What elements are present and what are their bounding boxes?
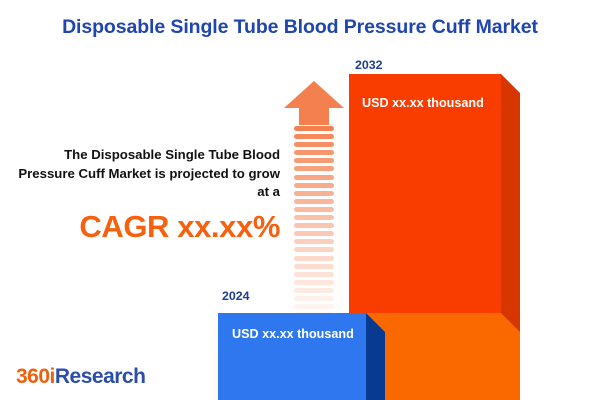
arrow-stripes	[294, 126, 334, 295]
arrow-stripe	[294, 256, 334, 261]
logo-suffix: Research	[55, 365, 146, 388]
brand-logo: 360iResearch	[16, 365, 145, 389]
arrow-stripe	[294, 231, 334, 236]
up-arrow-icon	[283, 80, 345, 295]
page-title: Disposable Single Tube Blood Pressure Cu…	[0, 16, 600, 39]
arrow-stripe	[294, 207, 334, 212]
arrow-stripe	[294, 272, 334, 277]
arrow-head-icon	[283, 80, 345, 126]
arrow-stripe	[294, 158, 334, 163]
arrow-stripe	[294, 183, 334, 188]
bar-2032-value-label: USD xx.xx thousand	[362, 96, 484, 110]
statement-text: The Disposable Single Tube Blood Pressur…	[18, 146, 280, 202]
arrow-stripe	[294, 142, 334, 147]
arrow-stripe	[294, 247, 334, 252]
arrow-stripe	[294, 223, 334, 228]
statement-block: The Disposable Single Tube Blood Pressur…	[18, 146, 280, 244]
arrow-stripe	[294, 175, 334, 180]
arrow-stripe	[294, 239, 334, 244]
arrow-stripe	[294, 134, 334, 139]
bar-2024-value-label: USD xx.xx thousand	[232, 327, 354, 341]
infographic-canvas: Disposable Single Tube Blood Pressure Cu…	[0, 0, 600, 400]
arrow-stripe	[294, 288, 334, 293]
arrow-stripe	[294, 280, 334, 285]
arrow-stripe	[294, 191, 334, 196]
arrow-stripe	[294, 199, 334, 204]
bar-2024-year-label: 2024	[222, 289, 250, 303]
cagr-value: CAGR xx.xx%	[18, 211, 280, 244]
arrow-stripe	[294, 264, 334, 269]
arrow-stripe	[294, 296, 334, 301]
arrow-stripe	[294, 215, 334, 220]
arrow-stripe	[294, 304, 334, 309]
bar-2024-side-face	[366, 313, 385, 400]
arrow-stripe	[294, 150, 334, 155]
arrow-stripe	[294, 126, 334, 131]
bar-2032-year-label: 2032	[355, 58, 383, 72]
arrow-stripe	[294, 166, 334, 171]
logo-prefix: 360i	[16, 365, 55, 388]
